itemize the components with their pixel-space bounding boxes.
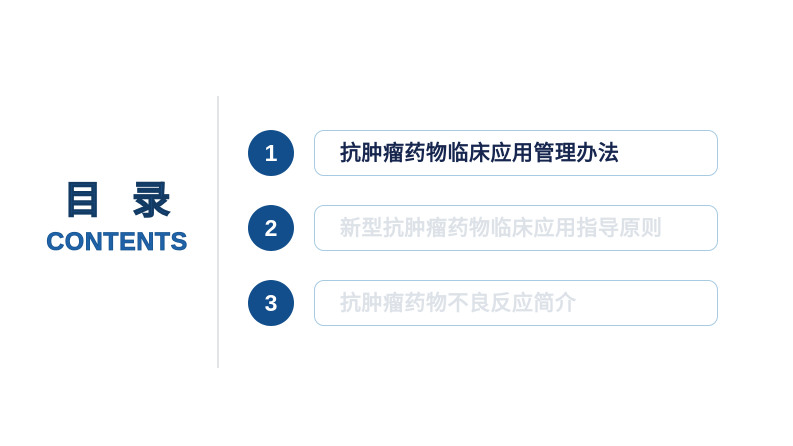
- item-label-1: 抗肿瘤药物临床应用管理办法: [340, 143, 620, 164]
- item-label-3: 抗肿瘤药物不良反应简介: [340, 293, 577, 314]
- item-number-badge-1: 1: [248, 130, 294, 176]
- page-title-english: CONTENTS: [28, 228, 206, 257]
- list-item[interactable]: 2 新型抗肿瘤药物临床应用指导原则: [248, 205, 718, 251]
- page-title-chinese: 目 录: [28, 182, 206, 222]
- item-number-badge-2: 2: [248, 205, 294, 251]
- list-item[interactable]: 1 抗肿瘤药物临床应用管理办法: [248, 130, 718, 176]
- item-label-2: 新型抗肿瘤药物临床应用指导原则: [340, 218, 663, 239]
- presentation-slide: 目 录 CONTENTS 1 抗肿瘤药物临床应用管理办法 2 新型抗肿瘤药物临床…: [0, 0, 793, 446]
- contents-list: 1 抗肿瘤药物临床应用管理办法 2 新型抗肿瘤药物临床应用指导原则 3 抗肿瘤药…: [248, 130, 718, 326]
- slide-title-block: 目 录 CONTENTS: [28, 182, 206, 257]
- item-label-box-1[interactable]: 抗肿瘤药物临床应用管理办法: [314, 130, 718, 176]
- item-number-badge-3: 3: [248, 280, 294, 326]
- item-label-box-3[interactable]: 抗肿瘤药物不良反应简介: [314, 280, 718, 326]
- vertical-divider: [217, 96, 219, 368]
- item-label-box-2[interactable]: 新型抗肿瘤药物临床应用指导原则: [314, 205, 718, 251]
- list-item[interactable]: 3 抗肿瘤药物不良反应简介: [248, 280, 718, 326]
